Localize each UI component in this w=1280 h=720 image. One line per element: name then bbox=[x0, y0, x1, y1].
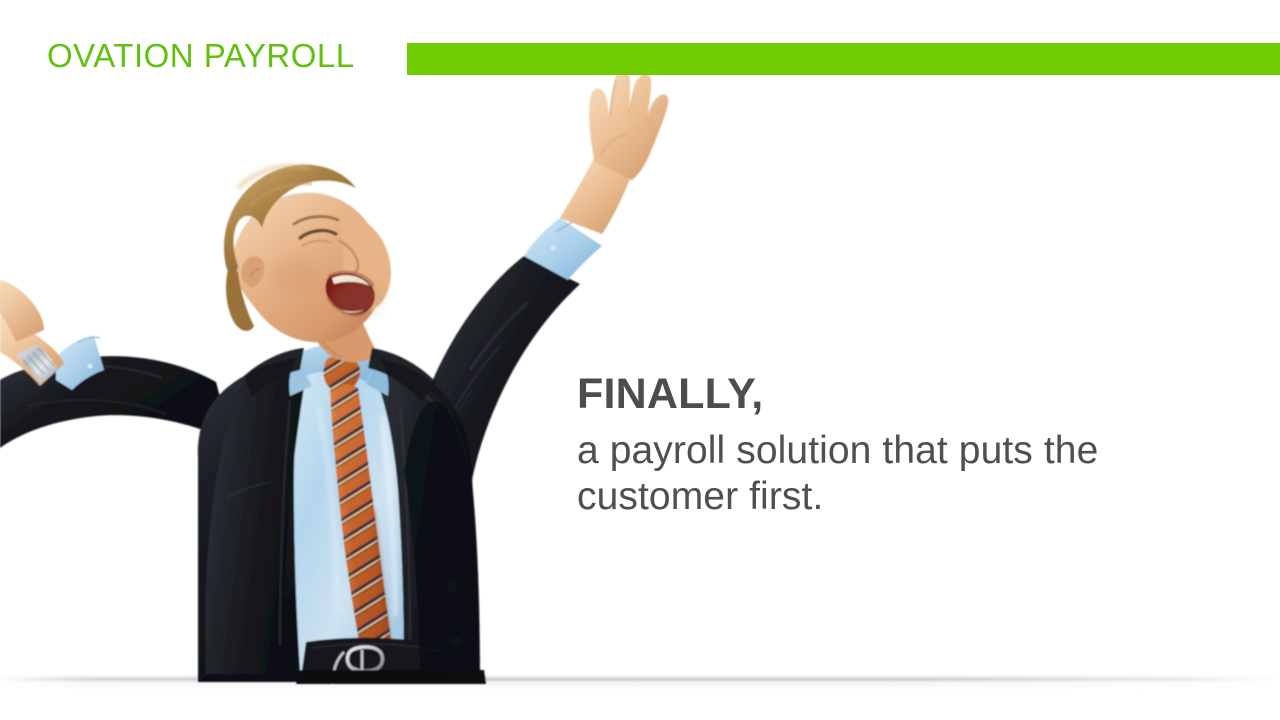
headline-primary: FINALLY, bbox=[577, 368, 1217, 420]
headline-block: FINALLY, a payroll solution that puts th… bbox=[577, 368, 1217, 519]
headline-line-3: customer first. bbox=[577, 474, 1217, 519]
brand-header: OVATION PAYROLL bbox=[0, 34, 1280, 80]
brand-accent-bar bbox=[407, 43, 1280, 75]
headline-line-2: a payroll solution that puts the bbox=[577, 428, 1217, 473]
brand-title: OVATION PAYROLL bbox=[47, 34, 355, 78]
slide-canvas: OVATION PAYROLL FINALLY, a payroll solut… bbox=[0, 0, 1280, 720]
